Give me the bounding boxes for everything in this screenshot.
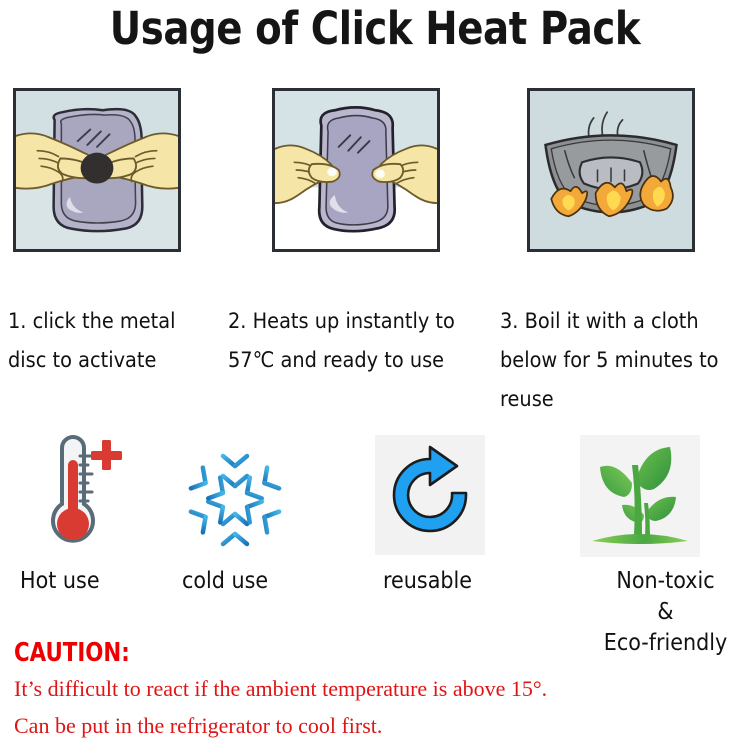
snowflake-icon [175, 436, 295, 564]
feature-icon-row [0, 432, 750, 572]
steps-caption-row: 1. click the metal disc to activate 2. H… [0, 302, 750, 422]
step-3-caption-line-3: reuse [500, 387, 554, 412]
step-2-caption: 2. Heats up instantly to 57℃ and ready t… [228, 302, 455, 380]
page-title: Usage of Click Heat Pack [53, 2, 698, 55]
refresh-arrow-icon [375, 435, 485, 555]
caution-line-1: It’s difficult to react if the ambient t… [14, 676, 547, 702]
caution-heading: CAUTION: [14, 638, 130, 668]
steps-illustration-row [0, 88, 750, 254]
feature-label-reusable: reusable [383, 566, 472, 597]
step-2-caption-line-1: 2. Heats up instantly to [228, 309, 455, 334]
feature-label-non-toxic: Non-toxic & Eco-friendly [587, 566, 745, 659]
step-2-caption-line-2: 57℃ and ready to use [228, 348, 444, 373]
feature-label-non-toxic-line-2: & [587, 597, 745, 628]
step-1-caption-line-2: disc to activate [8, 348, 156, 373]
sprout-plant-icon [580, 435, 700, 557]
step-3-caption-line-2: below for 5 minutes to [500, 348, 719, 373]
feature-label-non-toxic-line-3: Eco-friendly [587, 628, 745, 659]
step-1-caption: 1. click the metal disc to activate [8, 302, 175, 380]
step-1-caption-line-1: 1. click the metal [8, 309, 175, 334]
step-2-illustration [272, 88, 440, 252]
step-3-caption-line-1: 3. Boil it with a cloth [500, 309, 699, 334]
step-3-caption: 3. Boil it with a cloth below for 5 minu… [500, 302, 719, 419]
step-1-illustration [13, 88, 181, 252]
step-3-illustration [527, 88, 695, 252]
feature-label-non-toxic-line-1: Non-toxic [587, 566, 745, 597]
caution-line-2: Can be put in the refrigerator to cool f… [14, 713, 382, 739]
thermometer-plus-icon [22, 432, 142, 560]
feature-label-hot-use: Hot use [20, 566, 100, 597]
feature-label-cold-use: cold use [182, 566, 268, 597]
